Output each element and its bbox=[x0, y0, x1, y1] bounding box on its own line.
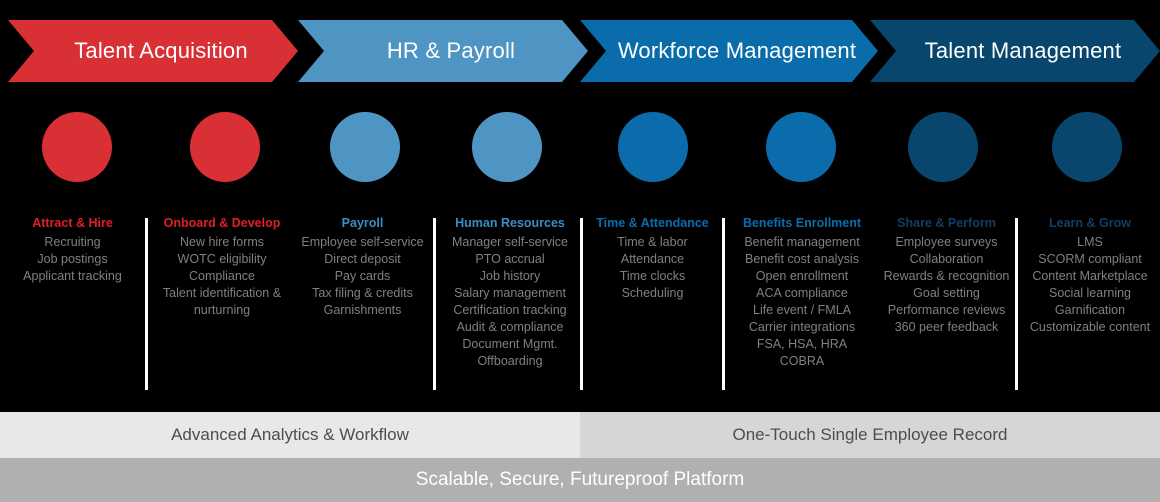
feature-item: Benefit management bbox=[728, 234, 876, 251]
feature-item: Talent identification & nurturning bbox=[152, 285, 292, 319]
feature-item: Applicant tracking bbox=[0, 268, 145, 285]
footer-bars: Advanced Analytics & WorkflowOne-Touch S… bbox=[0, 412, 1160, 502]
platform-band-label: Scalable, Secure, Futureproof Platform bbox=[416, 469, 744, 491]
column-divider-1 bbox=[433, 218, 436, 390]
feature-item: Carrier integrations bbox=[728, 319, 876, 336]
feature-column-7: Learn & GrowLMSSCORM compliantContent Ma… bbox=[1020, 215, 1160, 336]
feature-item: ACA compliance bbox=[728, 285, 876, 302]
feature-item: SCORM compliant bbox=[1020, 251, 1160, 268]
feature-item: Recruiting bbox=[0, 234, 145, 251]
process-banner-label: Workforce Management bbox=[602, 38, 856, 64]
footer-band-label: One-Touch Single Employee Record bbox=[733, 425, 1008, 445]
feature-item: Life event / FMLA bbox=[728, 302, 876, 319]
feature-item: Compliance bbox=[152, 268, 292, 285]
column-divider-0 bbox=[145, 218, 148, 390]
feature-item: Certification tracking bbox=[440, 302, 580, 319]
feature-item: Rewards & recognition bbox=[880, 268, 1013, 285]
feature-item: Tax filing & credits bbox=[295, 285, 430, 302]
feature-item: PTO accrual bbox=[440, 251, 580, 268]
feature-item: Performance reviews bbox=[880, 302, 1013, 319]
feature-column-6: Share & PerformEmployee surveysCollabora… bbox=[880, 215, 1013, 336]
feature-column-title: Share & Perform bbox=[880, 215, 1013, 232]
process-banner-label: Talent Management bbox=[909, 38, 1122, 64]
feature-item: Manager self-service bbox=[440, 234, 580, 251]
feature-column-2: PayrollEmployee self-serviceDirect depos… bbox=[295, 215, 430, 319]
feature-column-title: Benefits Enrollment bbox=[728, 215, 876, 232]
feature-column-title: Onboard & Develop bbox=[152, 215, 292, 232]
feature-column-title: Human Resources bbox=[440, 215, 580, 232]
column-divider-3 bbox=[722, 218, 725, 390]
feature-item: Open enrollment bbox=[728, 268, 876, 285]
feature-item: Time clocks bbox=[586, 268, 719, 285]
footer-band-1[interactable]: One-Touch Single Employee Record bbox=[580, 412, 1160, 458]
feature-item: 360 peer feedback bbox=[880, 319, 1013, 336]
feature-item: FSA, HSA, HRA bbox=[728, 336, 876, 353]
process-banner-label: HR & Payroll bbox=[371, 38, 515, 64]
feature-columns-row: Attract & HireRecruitingJob postingsAppl… bbox=[0, 215, 1160, 405]
footer-band-0[interactable]: Advanced Analytics & Workflow bbox=[0, 412, 580, 458]
feature-column-1: Onboard & DevelopNew hire formsWOTC elig… bbox=[152, 215, 292, 319]
column-divider-2 bbox=[580, 218, 583, 390]
footer-band-row: Advanced Analytics & WorkflowOne-Touch S… bbox=[0, 412, 1160, 458]
feature-item: Direct deposit bbox=[295, 251, 430, 268]
node-circle-time-attendance[interactable] bbox=[618, 112, 688, 182]
feature-item: Pay cards bbox=[295, 268, 430, 285]
feature-item: Job history bbox=[440, 268, 580, 285]
feature-item: Offboarding bbox=[440, 353, 580, 370]
node-circle-human-resources[interactable] bbox=[472, 112, 542, 182]
feature-item: Employee self-service bbox=[295, 234, 430, 251]
feature-column-title: Payroll bbox=[295, 215, 430, 232]
node-circle-onboard-develop[interactable] bbox=[190, 112, 260, 182]
node-circle-share-perform[interactable] bbox=[908, 112, 978, 182]
node-circle-benefits-enrollment[interactable] bbox=[766, 112, 836, 182]
feature-item: Benefit cost analysis bbox=[728, 251, 876, 268]
process-banner-1[interactable]: HR & Payroll bbox=[298, 20, 588, 82]
feature-item: COBRA bbox=[728, 353, 876, 370]
process-banner-2[interactable]: Workforce Management bbox=[580, 20, 878, 82]
feature-item: LMS bbox=[1020, 234, 1160, 251]
feature-column-title: Learn & Grow bbox=[1020, 215, 1160, 232]
feature-item: WOTC eligibility bbox=[152, 251, 292, 268]
feature-item: Garnishments bbox=[295, 302, 430, 319]
feature-column-title: Attract & Hire bbox=[0, 215, 145, 232]
process-banner-3[interactable]: Talent Management bbox=[870, 20, 1160, 82]
feature-item: Collaboration bbox=[880, 251, 1013, 268]
feature-item: Content Marketplace bbox=[1020, 268, 1160, 285]
feature-column-4: Time & AttendanceTime & laborAttendanceT… bbox=[586, 215, 719, 302]
platform-band: Scalable, Secure, Futureproof Platform bbox=[0, 458, 1160, 502]
feature-item: Document Mgmt. bbox=[440, 336, 580, 353]
process-banner-label: Talent Acquisition bbox=[58, 38, 248, 64]
feature-column-3: Human ResourcesManager self-servicePTO a… bbox=[440, 215, 580, 370]
feature-item: Salary management bbox=[440, 285, 580, 302]
node-circle-row bbox=[0, 112, 1160, 186]
feature-item: Job postings bbox=[0, 251, 145, 268]
feature-item: New hire forms bbox=[152, 234, 292, 251]
feature-item: Scheduling bbox=[586, 285, 719, 302]
feature-item: Social learning bbox=[1020, 285, 1160, 302]
feature-item: Employee surveys bbox=[880, 234, 1013, 251]
feature-column-0: Attract & HireRecruitingJob postingsAppl… bbox=[0, 215, 145, 285]
node-circle-attract-hire[interactable] bbox=[42, 112, 112, 182]
footer-band-label: Advanced Analytics & Workflow bbox=[171, 425, 409, 445]
process-banner-0[interactable]: Talent Acquisition bbox=[8, 20, 298, 82]
feature-column-5: Benefits EnrollmentBenefit managementBen… bbox=[728, 215, 876, 370]
feature-item: Customizable content bbox=[1020, 319, 1160, 336]
column-divider-4 bbox=[1015, 218, 1018, 390]
node-circle-payroll[interactable] bbox=[330, 112, 400, 182]
feature-item: Audit & compliance bbox=[440, 319, 580, 336]
feature-item: Garnification bbox=[1020, 302, 1160, 319]
process-banner-row: Talent AcquisitionHR & PayrollWorkforce … bbox=[0, 20, 1160, 82]
feature-column-title: Time & Attendance bbox=[586, 215, 719, 232]
node-circle-learn-grow[interactable] bbox=[1052, 112, 1122, 182]
feature-item: Attendance bbox=[586, 251, 719, 268]
feature-item: Goal setting bbox=[880, 285, 1013, 302]
feature-item: Time & labor bbox=[586, 234, 719, 251]
